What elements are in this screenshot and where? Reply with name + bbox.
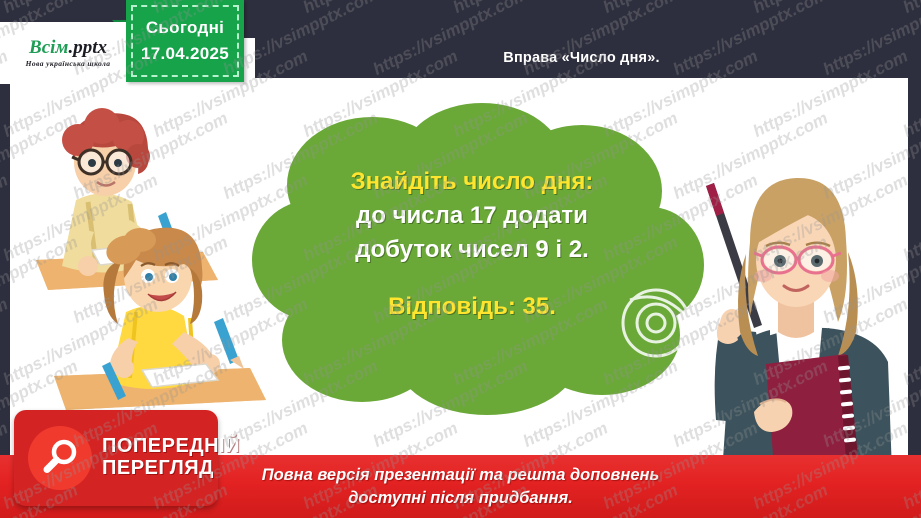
logo-subtitle: Нова українська школа <box>26 59 111 68</box>
slide-stage: Знайдіть число дня: до числа 17 додати д… <box>0 0 921 518</box>
preview-button[interactable]: ПОПЕРЕДНІЙ ПЕРЕГЛЯД <box>14 410 218 506</box>
magnifier-icon <box>28 426 92 490</box>
date-badge: Сьогодні 17.04.2025 <box>126 0 244 82</box>
logo-name-dark: .pptx <box>68 37 107 58</box>
preview-button-labels: ПОПЕРЕДНІЙ ПЕРЕГЛЯД <box>102 436 240 479</box>
purchase-banner-line-2: доступні після придбання. <box>348 487 573 509</box>
date-badge-date: 17.04.2025 <box>141 44 229 64</box>
header-bar: Вправа «Число дня». <box>255 38 908 78</box>
thought-bubble <box>252 95 702 415</box>
page-title: Вправа «Число дня». <box>503 50 659 66</box>
children-illustration <box>18 100 283 430</box>
site-logo[interactable]: Всім.pptx Нова українська школа <box>0 22 136 84</box>
logo-name-green: Всім <box>29 37 68 58</box>
preview-button-line-1: ПОПЕРЕДНІЙ <box>102 436 240 458</box>
purchase-banner-line-1: Повна версія презентації та решта доповн… <box>262 464 660 486</box>
frame-right-edge <box>908 0 921 518</box>
preview-button-line-2: ПЕРЕГЛЯД <box>102 458 240 480</box>
logo-wordmark: Всім.pptx <box>29 38 107 57</box>
teacher-illustration <box>668 168 918 470</box>
date-badge-today-label: Сьогодні <box>146 18 224 38</box>
